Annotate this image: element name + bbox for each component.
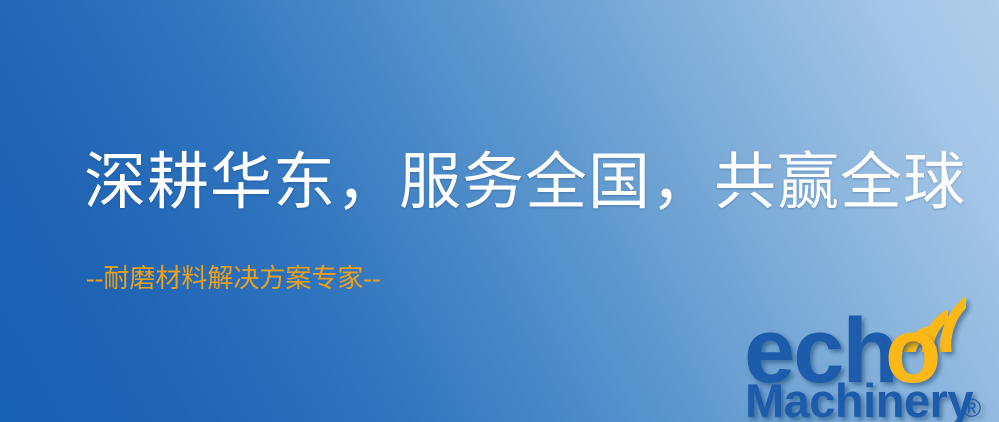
logo-text-machinery: Machinery <box>745 374 973 422</box>
page-title: 深耕华东，服务全国，共赢全球 <box>84 152 966 214</box>
promo-banner: 深耕华东，服务全国，共赢全球 --耐磨材料解决方案专家-- ech o <box>0 0 999 422</box>
echo-machinery-logo-graphic: ech o Machinery ® <box>744 296 999 422</box>
logo-registered-mark: ® <box>962 393 981 422</box>
page-subtitle: --耐磨材料解决方案专家-- <box>86 266 381 292</box>
company-logo[interactable]: ech o Machinery ® <box>744 296 999 422</box>
